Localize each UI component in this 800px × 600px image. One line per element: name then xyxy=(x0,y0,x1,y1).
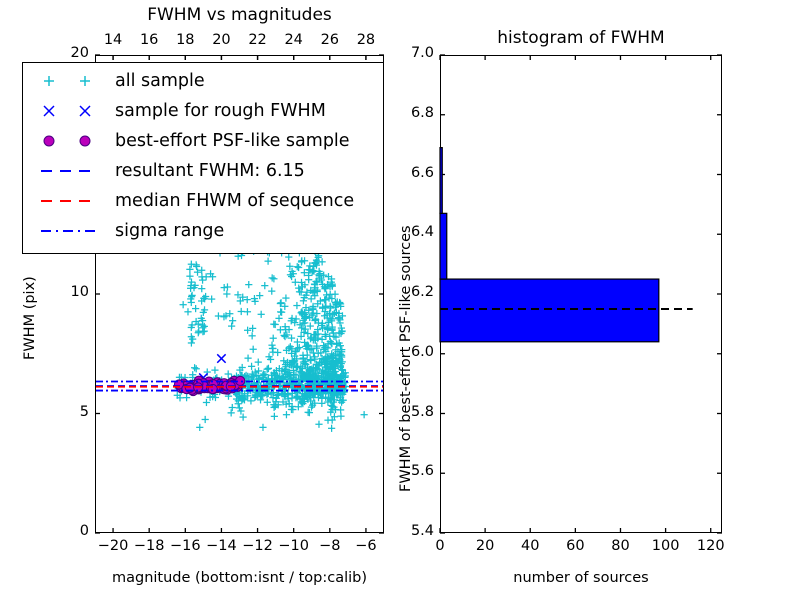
hist-xtick-2: 40 xyxy=(505,538,555,554)
legend-marker-dashdot-line-icon xyxy=(29,216,115,246)
scatter-ytick-1: 5 xyxy=(51,404,89,420)
hist-ytick-8: 7.0 xyxy=(392,45,434,61)
hist-ytick-6: 6.6 xyxy=(392,165,434,181)
legend-box[interactable]: all samplesample for rough FWHMbest-effo… xyxy=(22,62,384,254)
legend-label-2: best-effort PSF-like sample xyxy=(115,126,350,156)
scatter-top-xtick-1: 16 xyxy=(129,32,169,48)
scatter-top-xtick-0: 14 xyxy=(93,32,133,48)
hist-xtick-3: 60 xyxy=(550,538,600,554)
scatter-xlabel: magnitude (bottom:isnt / top:calib) xyxy=(95,570,384,586)
hist-xtick-5: 100 xyxy=(641,538,691,554)
legend-label-3: resultant FWHM: 6.15 xyxy=(115,156,305,186)
scatter-top-xtick-3: 20 xyxy=(201,32,241,48)
legend-entry-4[interactable]: median FHWM of sequence xyxy=(29,186,383,216)
scatter-ytick-4: 20 xyxy=(51,45,89,61)
scatter-top-xtick-5: 24 xyxy=(274,32,314,48)
legend-marker-circle-icon xyxy=(29,126,115,156)
hist-xtick-1: 20 xyxy=(460,538,510,554)
scatter-top-xtick-6: 26 xyxy=(310,32,350,48)
scatter-top-xtick-4: 22 xyxy=(238,32,278,48)
scatter-ytick-0: 0 xyxy=(51,523,89,539)
legend-entry-2[interactable]: best-effort PSF-like sample xyxy=(29,126,383,156)
legend-marker-plus-icon xyxy=(29,66,115,96)
legend-entry-3[interactable]: resultant FWHM: 6.15 xyxy=(29,156,383,186)
histogram-xlabel: number of sources xyxy=(440,570,722,586)
legend-label-1: sample for rough FWHM xyxy=(115,96,326,126)
hist-xtick-6: 120 xyxy=(686,538,736,554)
legend-entry-1[interactable]: sample for rough FWHM xyxy=(29,96,383,126)
legend-marker-cross-icon xyxy=(29,96,115,126)
legend-label-4: median FHWM of sequence xyxy=(115,186,354,216)
legend-entry-5[interactable]: sigma range xyxy=(29,216,383,246)
scatter-ytick-2: 10 xyxy=(51,284,89,300)
hist-xtick-4: 80 xyxy=(595,538,645,554)
legend-marker-dashed-line-icon xyxy=(29,186,115,216)
figure-canvas: FWHM vs magnitudes 1416182022242628 −20−… xyxy=(0,0,800,600)
legend-label-0: all sample xyxy=(115,66,205,96)
scatter-top-xtick-7: 28 xyxy=(346,32,386,48)
histogram-axes[interactable] xyxy=(440,55,722,533)
scatter-top-xtick-2: 18 xyxy=(165,32,205,48)
histogram-ylabel: FWHM of best-effort PSF-like sources xyxy=(398,225,414,492)
hist-ytick-7: 6.8 xyxy=(392,105,434,121)
legend-entry-0[interactable]: all sample xyxy=(29,66,383,96)
hist-xtick-0: 0 xyxy=(415,538,465,554)
scatter-xtick-7: −6 xyxy=(341,538,391,554)
scatter-ylabel: FWHM (pix) xyxy=(22,276,38,360)
hist-ytick-0: 5.4 xyxy=(392,523,434,539)
legend-label-5: sigma range xyxy=(115,216,224,246)
scatter-title: FWHM vs magnitudes xyxy=(95,5,384,25)
histogram-title: histogram of FWHM xyxy=(440,28,722,48)
legend-marker-dashed-line-icon xyxy=(29,156,115,186)
